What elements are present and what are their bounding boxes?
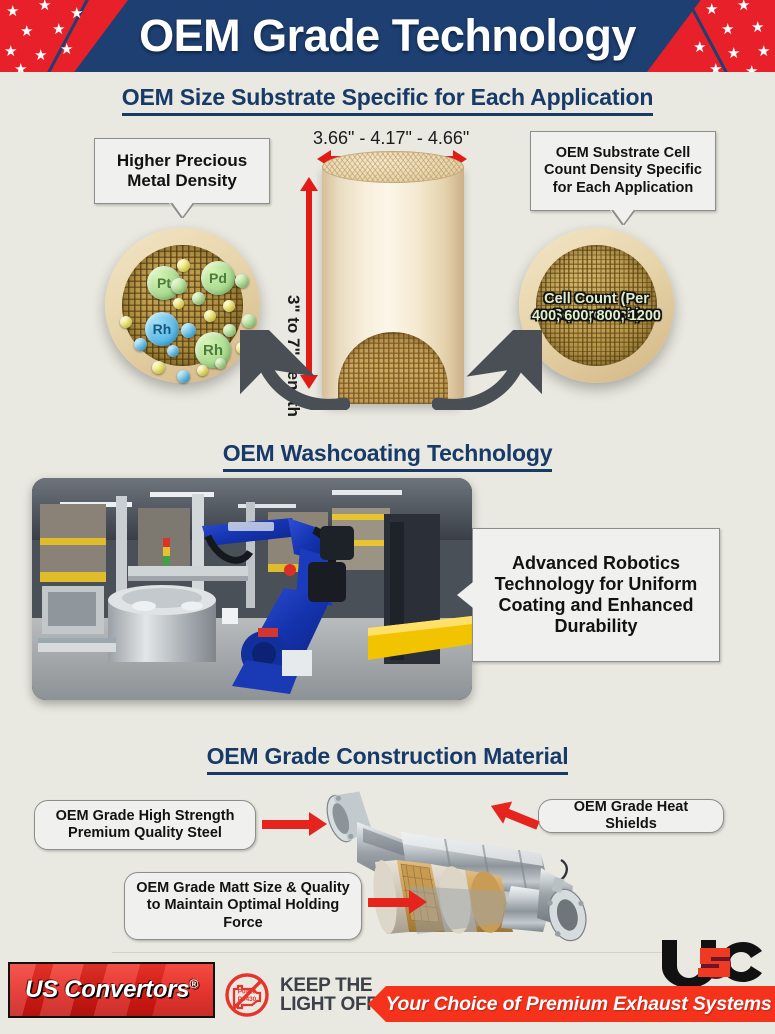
page-header: ★ ★ ★ ★ ★ ★ ★ ★ ★ OEM Grade Technology ★… <box>0 0 775 72</box>
diameter-label: 3.66" - 4.17" - 4.66" <box>313 128 469 149</box>
robotics-photo <box>32 478 472 700</box>
particle-dot <box>181 323 196 338</box>
particle-dot <box>242 314 256 328</box>
arrow-to-cell-count-disc <box>432 330 542 410</box>
brand-logo-us-convertors: US Convertors® <box>8 962 215 1018</box>
brand-name-text: US Convertors <box>25 976 189 1003</box>
callout-text: OEM Grade High Strength Premium Quality … <box>45 808 245 842</box>
callout-higher-precious-metal-density: Higher Precious Metal Density <box>94 138 270 204</box>
page-title: OEM Grade Technology <box>0 0 775 72</box>
section-heading-substrate: OEM Size Substrate Specific for Each App… <box>0 84 775 111</box>
particle-dot <box>173 298 184 309</box>
particle-dot <box>235 274 249 288</box>
tagline-banner: Your Choice of Premium Exhaust Systems <box>368 986 775 1022</box>
arrow-head-icon <box>409 890 427 914</box>
callout-advanced-robotics: Advanced Robotics Technology for Uniform… <box>472 528 720 662</box>
callout-heat-shields: OEM Grade Heat Shields <box>538 799 724 833</box>
brand-name: US Convertors® <box>25 976 198 1004</box>
particle-dot <box>120 316 132 328</box>
usc-logo <box>658 938 770 986</box>
callout-text: OEM Grade Heat Shields <box>549 799 713 833</box>
callout-text: OEM Substrate Cell Count Density Specifi… <box>540 145 706 196</box>
footer-divider <box>112 952 672 953</box>
particle-rh: Rh <box>145 312 179 346</box>
section-heading-construction: OEM Grade Construction Material <box>0 743 775 770</box>
arrow-to-matt <box>368 898 410 907</box>
particle-dot <box>215 358 226 369</box>
tagline-text: Your Choice of Premium Exhaust Systems <box>371 993 771 1016</box>
particle-dot <box>192 292 205 305</box>
particle-dot <box>177 370 190 383</box>
arrow-to-precious-metal-disc <box>240 330 350 410</box>
cell-count-disc: Cell Count (Per Square Inch) 400, 600, 8… <box>519 228 674 383</box>
particle-group: PtPdRhRh <box>105 228 260 383</box>
particle-dot <box>223 324 236 337</box>
substrate-cylinder-top-face <box>322 151 464 183</box>
precious-metal-disc: PtPdRhRh <box>105 228 260 383</box>
particle-pd: Pd <box>201 261 235 295</box>
particle-dot <box>197 365 208 376</box>
keep-light-line-1: KEEP THE <box>280 976 378 995</box>
particle-dot <box>177 259 190 272</box>
callout-text: OEM Grade Matt Size & Quality to Maintai… <box>135 880 351 931</box>
particle-dot <box>152 361 165 374</box>
callout-text: Higher Precious Metal Density <box>105 151 259 191</box>
arrow-to-steel-shell <box>262 820 310 829</box>
keep-light-line-2: LIGHT OFF <box>280 995 378 1014</box>
section-heading-construction-text: OEM Grade Construction Material <box>207 743 569 775</box>
section-heading-substrate-text: OEM Size Substrate Specific for Each App… <box>122 84 653 116</box>
particle-dot <box>134 338 147 351</box>
keep-light-text: KEEP THE LIGHT OFF <box>280 976 378 1014</box>
callout-tail <box>610 210 636 227</box>
particle-dot <box>167 345 179 357</box>
section-heading-washcoating-text: OEM Washcoating Technology <box>223 440 553 472</box>
callout-tail <box>169 203 195 220</box>
callout-matt-size-quality: OEM Grade Matt Size & Quality to Maintai… <box>124 872 362 940</box>
particle-dot <box>223 300 235 312</box>
particle-dot <box>171 278 187 294</box>
arrow-head-icon <box>309 812 327 836</box>
callout-cell-count-density: OEM Substrate Cell Count Density Specifi… <box>530 131 716 211</box>
particle-dot <box>204 310 216 322</box>
keep-the-light-off-badge: P0420 P0430 KEEP THE LIGHT OFF <box>222 972 378 1018</box>
check-engine-light-prohibited-icon: P0420 P0430 <box>222 972 272 1018</box>
callout-text: Advanced Robotics Technology for Uniform… <box>485 553 707 638</box>
section-heading-washcoating: OEM Washcoating Technology <box>0 440 775 467</box>
callout-high-strength-steel: OEM Grade High Strength Premium Quality … <box>34 800 256 850</box>
cell-count-values: 400, 600, 800, 1200 <box>519 308 674 324</box>
registered-mark: ® <box>189 977 198 991</box>
